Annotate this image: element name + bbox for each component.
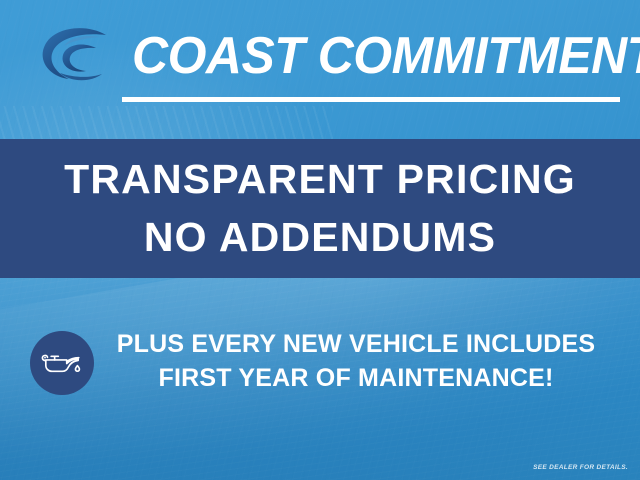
page-title: COAST COMMITMENT	[132, 22, 612, 90]
header-divider	[122, 97, 620, 102]
headline-transparent-pricing: TRANSPARENT PRICING	[0, 153, 640, 205]
promo-line-2: FIRST YEAR OF MAINTENANCE!	[106, 361, 606, 395]
promo-offer-row: PLUS EVERY NEW VEHICLE INCLUDES FIRST YE…	[0, 325, 640, 403]
banner-header: COAST COMMITMENT	[0, 0, 640, 139]
oil-can-icon	[30, 331, 94, 395]
disclaimer-text: SEE DEALER FOR DETAILS.	[533, 464, 628, 471]
promo-line-1: PLUS EVERY NEW VEHICLE INCLUDES	[106, 327, 606, 361]
coast-wave-swirl-logo-icon	[36, 24, 112, 88]
headline-no-addendums: NO ADDENDUMS	[0, 211, 640, 263]
coast-commitment-banner: COAST COMMITMENT TRANSPARENT PRICING NO …	[0, 0, 640, 480]
headline-band: TRANSPARENT PRICING NO ADDENDUMS	[0, 139, 640, 278]
promo-text-block: PLUS EVERY NEW VEHICLE INCLUDES FIRST YE…	[106, 327, 606, 395]
